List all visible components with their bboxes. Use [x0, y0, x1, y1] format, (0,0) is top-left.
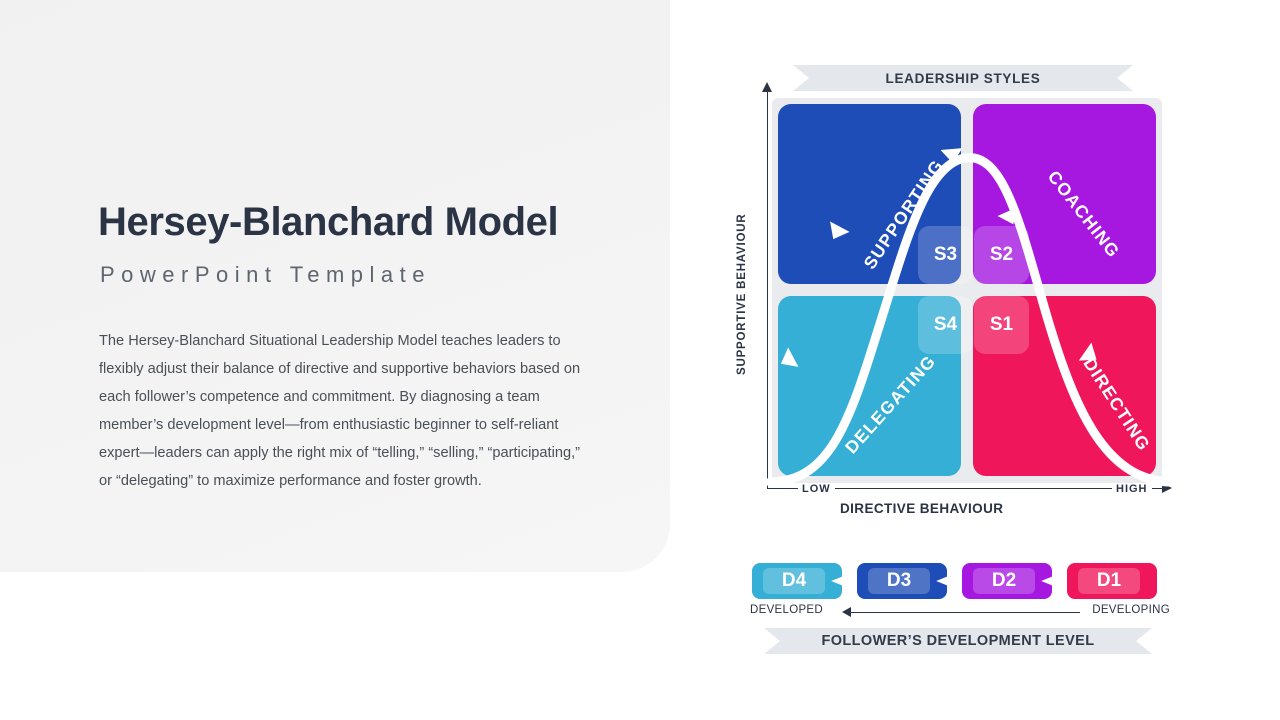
leadership-styles-banner: LEADERSHIP STYLES	[793, 65, 1133, 91]
development-scale: DEVELOPED DEVELOPING	[750, 604, 1170, 622]
supportive-axis-label: SUPPORTIVE BEHAVIOUR	[736, 214, 748, 375]
directive-axis-low-tick: LOW	[798, 483, 835, 495]
style-badge-s2[interactable]: S2	[974, 226, 1029, 284]
chip-label-d4: D4	[752, 563, 836, 599]
supportive-axis-line	[767, 88, 768, 488]
development-level-chips: D4 D3 D2 D1	[750, 563, 1170, 601]
chip-label-d2: D2	[962, 563, 1046, 599]
chip-label-d3: D3	[857, 563, 941, 599]
slide-canvas: Hersey-Blanchard Model PowerPoint Templa…	[0, 0, 1280, 720]
axis-up-arrow-icon	[762, 82, 772, 92]
style-badge-s1[interactable]: S1	[974, 296, 1029, 354]
directive-axis-label: DIRECTIVE BEHAVIOUR	[840, 501, 1003, 516]
page-subtitle: PowerPoint Template	[100, 262, 431, 288]
development-chip-d2[interactable]: D2	[962, 563, 1052, 599]
chip-label-d1: D1	[1067, 563, 1151, 599]
scale-line	[850, 612, 1080, 613]
description-paragraph: The Hersey-Blanchard Situational Leaders…	[99, 327, 591, 495]
scale-left-arrow-icon	[842, 607, 851, 617]
situational-leadership-diagram: LEADERSHIP STYLES HIGH LOW SUPPORTIVE BE…	[700, 0, 1280, 720]
page-title: Hersey-Blanchard Model	[98, 200, 558, 245]
leadership-matrix: SUPPORTING COACHING DELEGATING DIRECTING…	[778, 104, 1156, 477]
followers-development-level-banner: FOLLOWER’S DEVELOPMENT LEVEL	[764, 628, 1152, 654]
scale-label-developed: DEVELOPED	[750, 604, 823, 616]
style-badge-s4[interactable]: S4	[918, 296, 973, 354]
directive-axis-high-tick: HIGH	[1112, 483, 1152, 495]
development-chip-d1[interactable]: D1	[1067, 563, 1157, 599]
style-badge-s3[interactable]: S3	[918, 226, 973, 284]
development-chip-d4[interactable]: D4	[752, 563, 842, 599]
axis-right-arrow-icon	[1162, 483, 1172, 493]
development-chip-d3[interactable]: D3	[857, 563, 947, 599]
scale-label-developing: DEVELOPING	[1092, 604, 1170, 616]
